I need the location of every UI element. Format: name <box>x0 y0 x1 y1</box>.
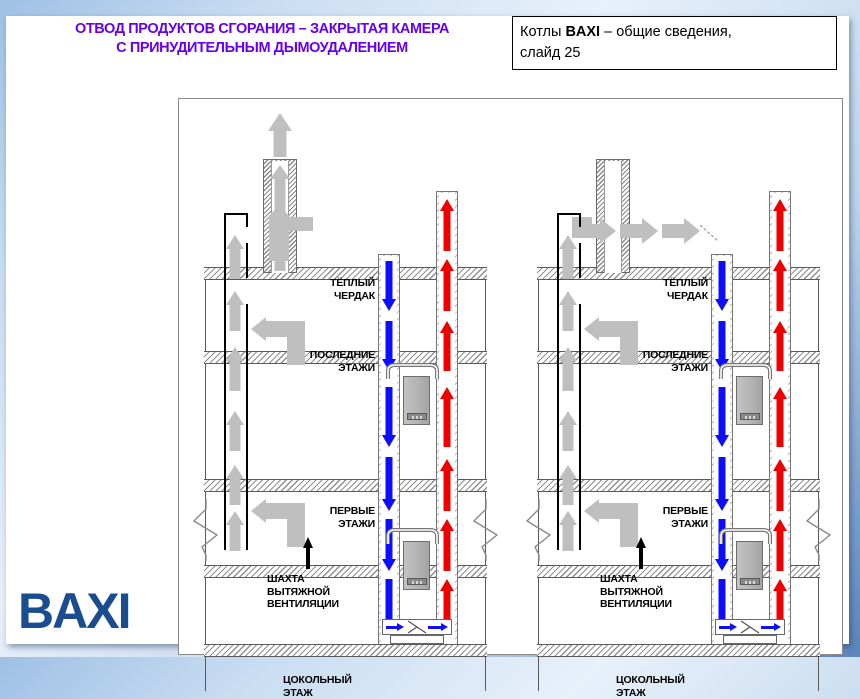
fan-outlet-arrow <box>761 623 781 631</box>
label-attic-line-2: ЧЕРДАК <box>630 290 708 303</box>
vent-shaft-pointer <box>303 537 314 569</box>
label-lower-floors: ПЕРВЫЕЭТАЖИ <box>622 505 708 530</box>
vent-shaft-arrow-3 <box>226 347 245 391</box>
label-vent-shaft-line-3: ВЕНТИЛЯЦИИ <box>600 598 696 611</box>
boiler-lower-floors-control-panel <box>407 578 427 585</box>
vent-shaft-arrow-5 <box>559 465 578 505</box>
vent-shaft-arrow-2 <box>559 291 578 331</box>
boiler-top-floors <box>403 376 430 425</box>
label-attic: ТЁПЛЫЙЧЕРДАК <box>297 277 375 302</box>
label-lower-floors-line-2: ЭТАЖИ <box>289 518 375 531</box>
label-basement-line-2: ЭТАЖ <box>283 687 375 699</box>
vent-shaft-arrow-4 <box>559 411 578 451</box>
slide-info-prefix: Котлы <box>520 24 565 40</box>
vent-arrow-attic-riser <box>572 217 592 235</box>
fan-outlet-arrow <box>428 623 448 631</box>
label-top-floors: ПОСЛЕДНИЕЭТАЖИ <box>279 349 375 374</box>
flue-exhaust-duct-cap <box>769 191 791 192</box>
vent-shaft-arrow-6 <box>226 511 245 551</box>
flue-exhaust-arrow-1 <box>440 199 454 251</box>
label-vent-shaft-line-2: ВЫТЯЖНОЙ <box>600 586 696 599</box>
air-supply-arrow-1 <box>382 261 396 311</box>
label-top-floors-line-2: ЭТАЖИ <box>279 362 375 375</box>
boiler-top-floors-control-panel <box>407 413 427 420</box>
label-basement-line-1: ЦОКОЛЬНЫЙ <box>616 674 708 687</box>
wall-break-left <box>526 499 552 561</box>
exhaust-fan-base <box>390 635 444 644</box>
wall-break-right <box>473 499 499 561</box>
label-attic-line-2: ЧЕРДАК <box>297 290 375 303</box>
slab-foundation <box>204 644 487 657</box>
vent-shaft-top-cap <box>224 213 248 215</box>
vent-shaft-pointer <box>636 537 647 569</box>
label-basement: ЦОКОЛЬНЫЙЭТАЖ <box>616 674 708 699</box>
air-supply-arrow-3 <box>715 387 729 447</box>
vent-shaft-arrow-5 <box>226 465 245 505</box>
flue-exhaust-arrow-4 <box>773 387 787 447</box>
label-vent-shaft-line-2: ВЫТЯЖНОЙ <box>267 586 363 599</box>
air-supply-arrow-4 <box>715 457 729 511</box>
vent-arrow-attic-elbow <box>243 205 313 261</box>
page-title-line-2: С ПРИНУДИТЕЛЬНЫМ ДЫМОУДАЛЕНИЕМ <box>20 39 504 58</box>
boiler-lower-floors-flue-connection <box>382 527 452 545</box>
wall-break-left <box>193 499 219 561</box>
label-vent-shaft: ШАХТАВЫТЯЖНОЙВЕНТИЛЯЦИИ <box>267 573 363 611</box>
fan-inlet-arrow <box>719 623 737 631</box>
air-supply-arrow-1 <box>715 261 729 311</box>
boiler-top-floors-flue-connection <box>715 362 785 380</box>
vent-duct-connector <box>700 225 722 247</box>
label-vent-shaft-line-3: ВЕНТИЛЯЦИИ <box>267 598 363 611</box>
fan-damper-symbol <box>739 619 761 635</box>
label-top-floors-line-1: ПОСЛЕДНИЕ <box>612 349 708 362</box>
slide-info-brand: BAXI <box>565 24 600 40</box>
chimney-stub-flue <box>604 161 622 273</box>
label-lower-floors-line-2: ЭТАЖИ <box>622 518 708 531</box>
fan-damper-symbol <box>406 619 428 635</box>
flue-exhaust-arrow-1 <box>773 199 787 251</box>
boiler-lower-floors <box>403 541 430 590</box>
slab-foundation <box>537 644 820 657</box>
label-attic-line-1: ТЁПЛЫЙ <box>297 277 375 290</box>
flue-exhaust-arrow-4 <box>440 387 454 447</box>
boiler-top-floors-control-panel <box>740 413 760 420</box>
vent-shaft-arrow-6 <box>559 511 578 551</box>
page-title: ОТВОД ПРОДУКТОВ СГОРАНИЯ – ЗАКРЫТАЯ КАМЕ… <box>20 20 504 58</box>
vent-arrow-attic-2 <box>620 218 658 244</box>
label-basement-line-2: ЭТАЖ <box>616 687 708 699</box>
page-title-line-1: ОТВОД ПРОДУКТОВ СГОРАНИЯ – ЗАКРЫТАЯ КАМЕ… <box>20 20 504 39</box>
label-basement: ЦОКОЛЬНЫЙЭТАЖ <box>283 674 375 699</box>
vent-shaft-arrow-3 <box>559 347 578 391</box>
exhaust-fan-base <box>723 635 777 644</box>
diagram-frame: ТЁПЛЫЙЧЕРДАКПОСЛЕДНИЕЭТАЖИПЕРВЫЕЭТАЖИШАХ… <box>178 98 843 655</box>
vent-shaft-wall-inner-2 <box>246 304 248 550</box>
label-basement-line-1: ЦОКОЛЬНЫЙ <box>283 674 375 687</box>
flue-exhaust-arrow-5 <box>773 459 787 511</box>
label-lower-floors-line-1: ПЕРВЫЕ <box>289 505 375 518</box>
vent-shaft-wall-inner-2 <box>579 304 581 550</box>
slide-canvas: ОТВОД ПРОДУКТОВ СГОРАНИЯ – ЗАКРЫТАЯ КАМЕ… <box>6 16 849 644</box>
label-top-floors-line-2: ЭТАЖИ <box>612 362 708 375</box>
label-top-floors: ПОСЛЕДНИЕЭТАЖИ <box>612 349 708 374</box>
slide-info-box: Котлы BAXI – общие сведения, слайд 25 <box>512 16 837 70</box>
vent-arrow-attic-3 <box>662 218 700 244</box>
vent-shaft-top-cap <box>557 213 581 215</box>
air-supply-arrow-4 <box>382 457 396 511</box>
label-attic-line-1: ТЁПЛЫЙ <box>630 277 708 290</box>
slide-info-suffix: – общие сведения, <box>600 24 732 40</box>
flue-exhaust-arrow-5 <box>440 459 454 511</box>
boiler-lower-floors-flue-connection <box>715 527 785 545</box>
vent-shaft-wall-inner <box>579 243 581 278</box>
vent-shaft-cap-drop <box>246 213 248 227</box>
vent-shaft-cap-drop <box>579 213 581 227</box>
flue-exhaust-duct-cap <box>436 191 458 192</box>
slide-info-line-2: слайд 25 <box>520 43 829 64</box>
boiler-top-floors-flue-connection <box>382 362 452 380</box>
label-top-floors-line-1: ПОСЛЕДНИЕ <box>279 349 375 362</box>
air-supply-arrow-3 <box>382 387 396 447</box>
boiler-lower-floors <box>736 541 763 590</box>
vent-shaft-wall-inner <box>246 243 248 278</box>
air-supply-duct-cap <box>711 254 733 255</box>
vent-shaft-arrow-4 <box>226 411 245 451</box>
diagram-panel-left-variant: ТЁПЛЫЙЧЕРДАКПОСЛЕДНИЕЭТАЖИПЕРВЫЕЭТАЖИШАХ… <box>179 99 511 654</box>
vent-arrow-roof-outlet <box>268 113 292 157</box>
label-vent-shaft-line-1: ШАХТА <box>267 573 363 586</box>
label-vent-shaft-line-1: ШАХТА <box>600 573 696 586</box>
flue-exhaust-arrow-2 <box>440 259 454 311</box>
vent-shaft-arrow-2 <box>226 291 245 331</box>
boiler-lower-floors-control-panel <box>740 578 760 585</box>
diagram-panel-right-variant: ТЁПЛЫЙЧЕРДАКПОСЛЕДНИЕЭТАЖИПЕРВЫЕЭТАЖИШАХ… <box>512 99 844 654</box>
baxi-logo: BAXI <box>18 582 129 640</box>
vent-shaft-arrow-1 <box>226 235 245 279</box>
label-vent-shaft: ШАХТАВЫТЯЖНОЙВЕНТИЛЯЦИИ <box>600 573 696 611</box>
label-lower-floors: ПЕРВЫЕЭТАЖИ <box>289 505 375 530</box>
vent-shaft-arrow-1 <box>559 235 578 279</box>
flue-exhaust-arrow-2 <box>773 259 787 311</box>
label-lower-floors-line-1: ПЕРВЫЕ <box>622 505 708 518</box>
wall-break-right <box>806 499 832 561</box>
air-supply-duct-cap <box>378 254 400 255</box>
boiler-top-floors <box>736 376 763 425</box>
label-attic: ТЁПЛЫЙЧЕРДАК <box>630 277 708 302</box>
fan-inlet-arrow <box>386 623 404 631</box>
